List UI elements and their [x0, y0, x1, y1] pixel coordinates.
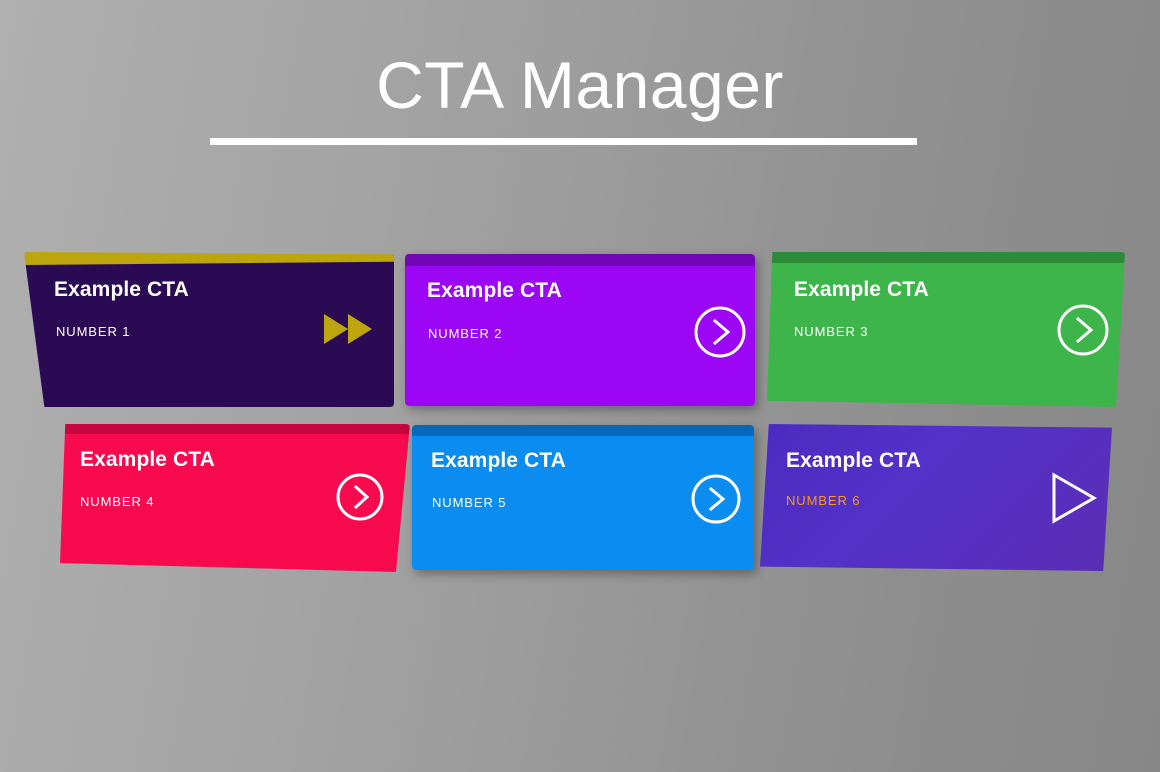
card-accent-bar [412, 425, 754, 436]
cta-card-2[interactable]: Example CTA NUMBER 2 [405, 254, 755, 406]
cta-card-4[interactable]: Example CTA NUMBER 4 [60, 424, 410, 572]
card-title: Example CTA [786, 449, 921, 473]
card-accent-bar [24, 252, 394, 265]
card-background: Example CTA NUMBER 4 [60, 424, 410, 572]
card-accent-bar [60, 424, 410, 434]
card-background: Example CTA NUMBER 5 [412, 425, 754, 570]
circle-chevron-right-icon[interactable] [334, 471, 386, 523]
card-title: Example CTA [427, 279, 562, 303]
card-title: Example CTA [431, 449, 566, 473]
play-triangle-outline-icon[interactable] [1040, 467, 1102, 529]
card-title: Example CTA [794, 278, 929, 302]
card-background: Example CTA NUMBER 3 [767, 252, 1125, 407]
card-subtitle: NUMBER 5 [432, 495, 506, 510]
cta-card-3[interactable]: Example CTA NUMBER 3 [767, 252, 1125, 407]
cta-card-5[interactable]: Example CTA NUMBER 5 [412, 425, 754, 570]
circle-chevron-right-icon[interactable] [1055, 302, 1111, 358]
card-background: Example CTA NUMBER 1 [24, 252, 394, 407]
card-subtitle: NUMBER 4 [80, 494, 154, 509]
card-subtitle: NUMBER 2 [428, 326, 502, 341]
cta-card-6[interactable]: Example CTA NUMBER 6 [760, 424, 1112, 571]
cta-card-1[interactable]: Example CTA NUMBER 1 [24, 252, 394, 407]
circle-chevron-right-icon[interactable] [692, 304, 748, 360]
card-background: Example CTA NUMBER 6 [760, 424, 1112, 571]
card-subtitle: NUMBER 1 [56, 324, 130, 339]
card-accent-bar [767, 252, 1125, 263]
card-subtitle: NUMBER 6 [786, 493, 860, 508]
fast-forward-icon[interactable] [322, 312, 374, 346]
card-title: Example CTA [54, 278, 189, 302]
card-title: Example CTA [80, 448, 215, 472]
card-accent-bar [405, 254, 755, 266]
card-background: Example CTA NUMBER 2 [405, 254, 755, 406]
card-subtitle: NUMBER 3 [794, 324, 868, 339]
cta-card-grid: Example CTA NUMBER 1 Example CTA NUMBER … [0, 0, 1160, 772]
circle-chevron-right-icon[interactable] [689, 472, 743, 526]
